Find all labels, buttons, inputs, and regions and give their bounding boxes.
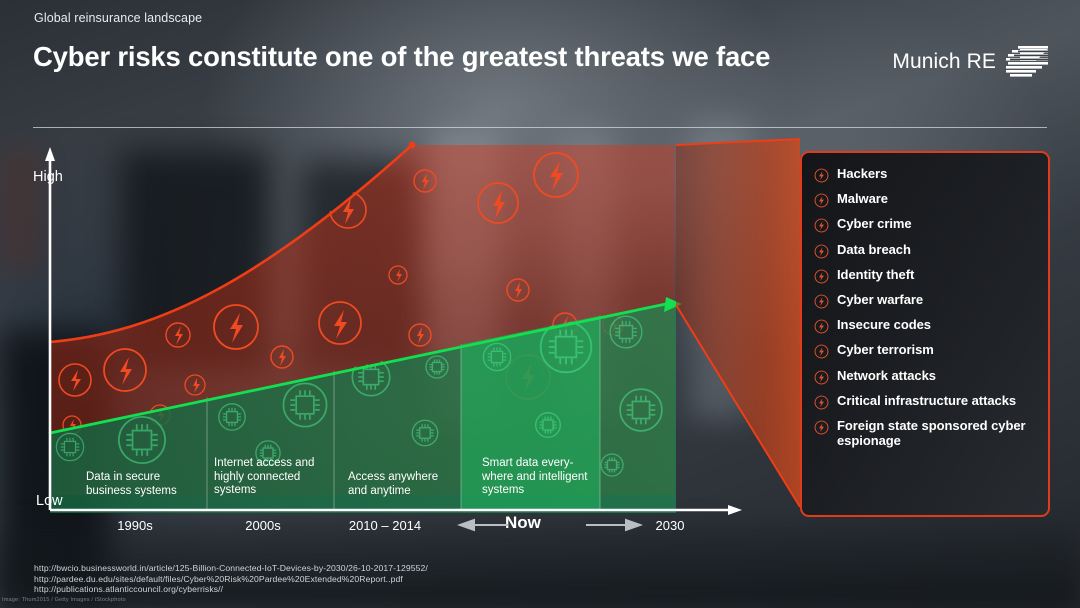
x-tick-1990s: 1990s: [90, 518, 180, 533]
brand-name: Munich RE: [892, 50, 996, 74]
threat-label: Malware: [837, 191, 888, 206]
x-tick-2010-2014: 2010 – 2014: [330, 518, 440, 533]
list-item[interactable]: Cyber warfare: [814, 292, 1038, 309]
threat-list-panel: Hackers Malware Cyber crime Data breach: [800, 151, 1050, 517]
threat-label: Cyber terrorism: [837, 342, 934, 357]
threat-label: Cyber crime: [837, 216, 912, 231]
list-item[interactable]: Hackers: [814, 166, 1038, 183]
lightning-bolt-circle-icon: [814, 218, 829, 233]
page-title: Cyber risks constitute one of the greate…: [33, 41, 770, 73]
header-divider: [33, 127, 1047, 128]
lightning-bolt-circle-icon: [179, 247, 215, 283]
list-item[interactable]: Data breach: [814, 242, 1038, 259]
eyebrow-label: Global reinsurance landscape: [34, 11, 202, 25]
list-item[interactable]: Network attacks: [814, 368, 1038, 385]
threat-label: Data breach: [837, 242, 911, 257]
lightning-bolt-circle-icon: [814, 319, 829, 334]
threat-label: Hackers: [837, 166, 887, 181]
segment-caption-2010-2014: Access anywhere and anytime: [348, 471, 460, 498]
source-link[interactable]: http://bwcio.businessworld.in/article/12…: [34, 563, 428, 574]
now-range-arrows: [450, 512, 700, 538]
lightning-bolt-circle-icon: [137, 284, 159, 306]
lightning-bolt-circle-icon: [814, 370, 829, 385]
list-item[interactable]: Insecure codes: [814, 317, 1038, 334]
source-link[interactable]: http://publications.atlanticcouncil.org/…: [34, 584, 428, 595]
segment-caption-2000s: Internet access and highly connected sys…: [214, 457, 332, 498]
list-item[interactable]: Cyber terrorism: [814, 342, 1038, 359]
panel-connector-wedge: [676, 139, 800, 507]
threat-label: Insecure codes: [837, 317, 931, 332]
lightning-bolt-circle-icon: [814, 168, 829, 183]
list-item[interactable]: Identity theft: [814, 267, 1038, 284]
y-axis-label-high: High: [33, 169, 63, 185]
lightning-bolt-circle-icon: [814, 420, 829, 435]
lightning-bolt-circle-icon: [814, 269, 829, 284]
threat-label: Identity theft: [837, 267, 914, 282]
list-item[interactable]: Foreign state sponsored cyber espionage: [814, 418, 1038, 448]
segment-caption-1990s: Data in secure business systems: [86, 471, 198, 498]
source-links: http://bwcio.businessworld.in/article/12…: [34, 563, 428, 595]
threat-label: Critical infrastructure attacks: [837, 393, 1016, 408]
segment-caption-now: Smart data every-where and intelligent s…: [482, 457, 598, 498]
list-item[interactable]: Cyber crime: [814, 216, 1038, 233]
curve-endpoint: [409, 142, 416, 149]
lightning-bolt-circle-icon: [814, 244, 829, 259]
list-item[interactable]: Critical infrastructure attacks: [814, 393, 1038, 410]
lightning-bolt-circle-icon: [814, 294, 829, 309]
brand-lockup: Munich RE: [892, 45, 1048, 79]
list-item[interactable]: Malware: [814, 191, 1038, 208]
y-axis-label-low: Low: [36, 493, 63, 509]
lightning-bolt-circle-icon: [814, 344, 829, 359]
munich-re-bars-logo-icon: [1006, 45, 1048, 79]
x-tick-2000s: 2000s: [218, 518, 308, 533]
lightning-bolt-circle-icon: [258, 216, 286, 244]
lightning-bolt-circle-icon: [814, 395, 829, 410]
lightning-bolt-circle-icon: [814, 193, 829, 208]
slide-canvas: Global reinsurance landscape Cyber risks…: [0, 0, 1080, 608]
image-credit: Image: Thum2015 / Getty Images / iStockp…: [2, 597, 126, 603]
x-axis-arrowhead: [728, 505, 742, 515]
y-axis-arrowhead: [45, 147, 55, 161]
threat-label: Network attacks: [837, 368, 936, 383]
threat-label: Cyber warfare: [837, 292, 923, 307]
source-link[interactable]: http://pardee.du.edu/sites/default/files…: [34, 574, 428, 585]
threat-label: Foreign state sponsored cyber espionage: [837, 418, 1038, 448]
